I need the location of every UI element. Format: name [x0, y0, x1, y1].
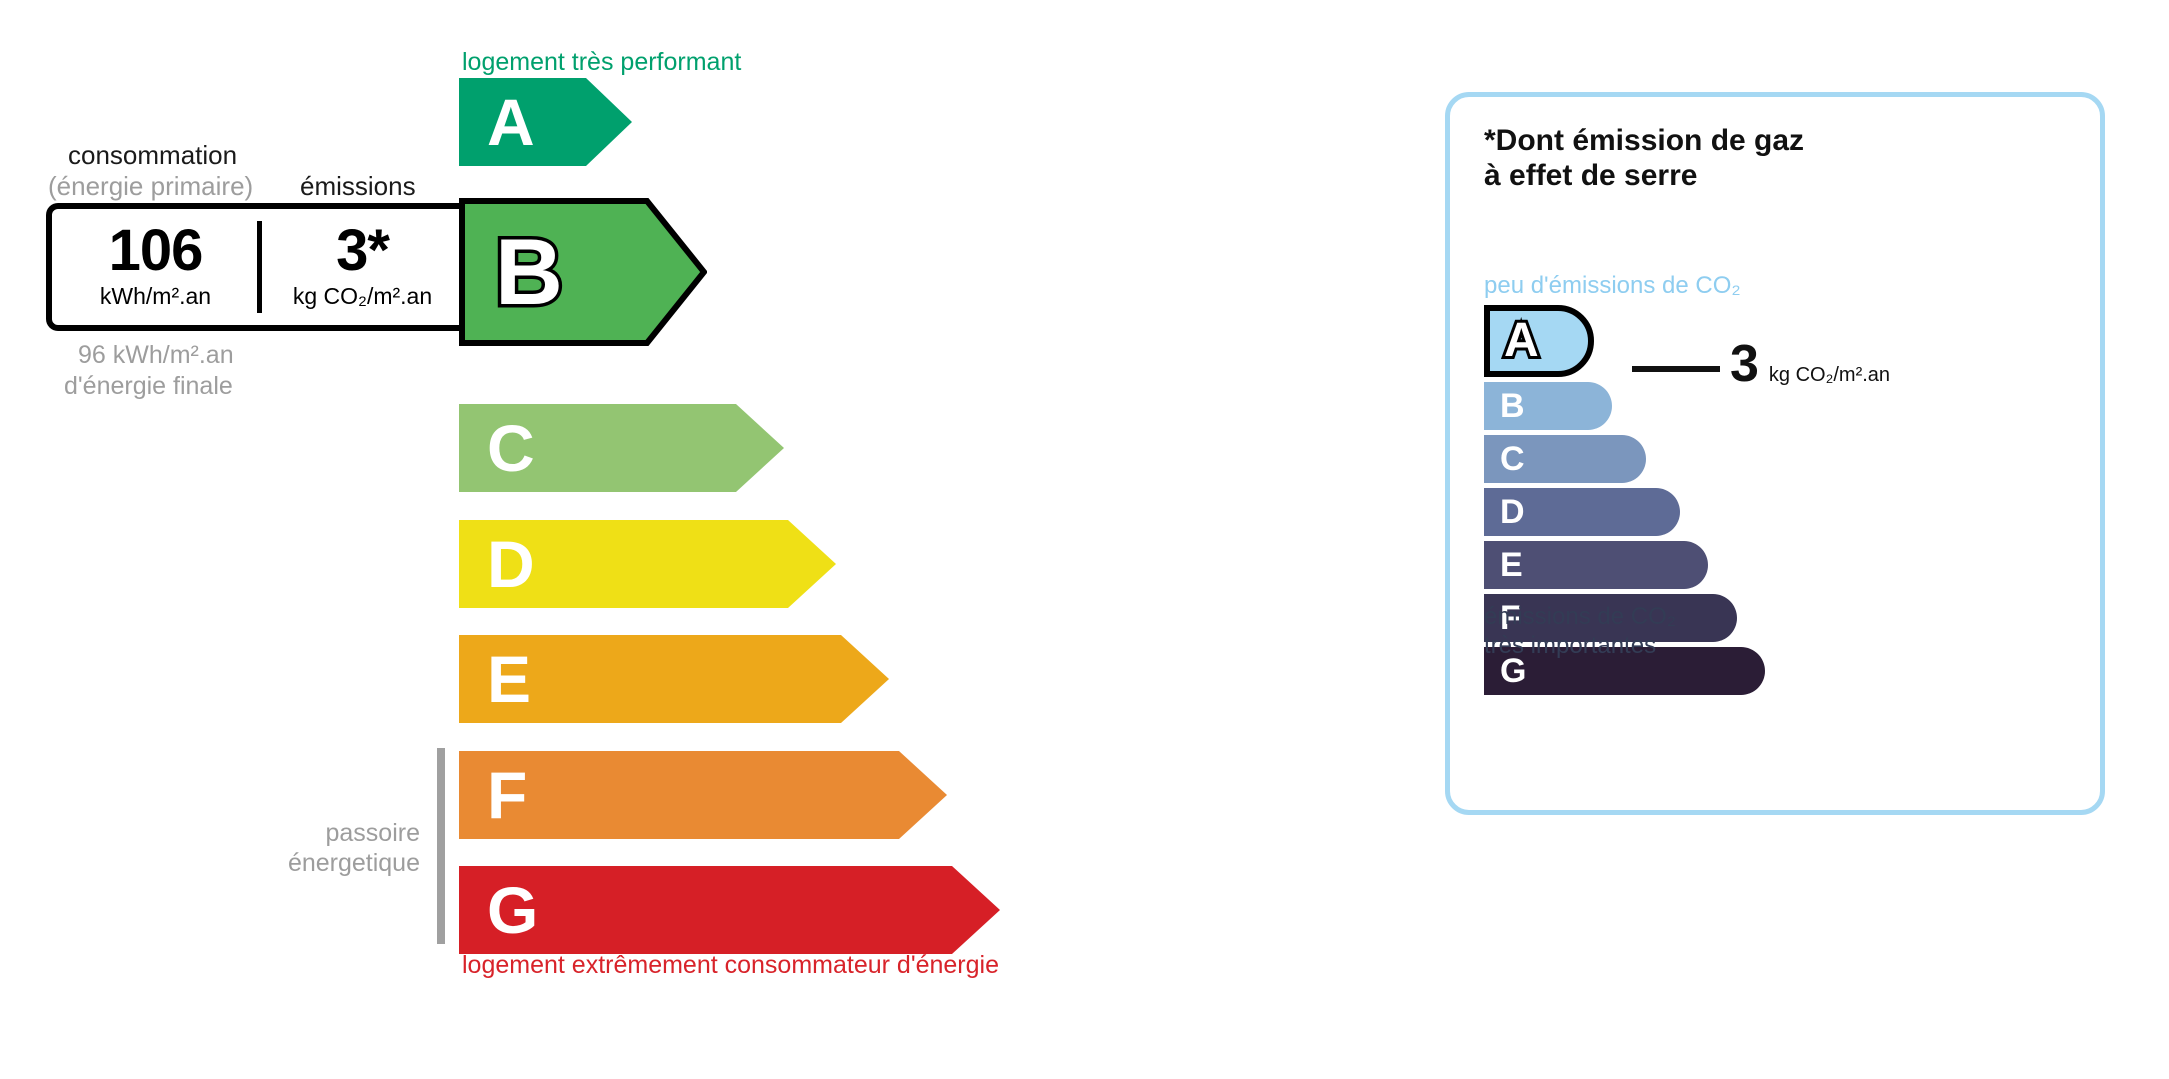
- consumption-value: 106: [109, 224, 203, 277]
- energy-class-letter-d: D: [487, 531, 535, 597]
- primary-energy-label: (énergie primaire): [48, 171, 253, 202]
- passoire-line-2: énergetique: [240, 848, 420, 878]
- passoire-marker-bar: [437, 748, 445, 944]
- co2-unit: kg CO₂/m².an: [1769, 364, 1890, 387]
- co2-value: 3: [1730, 338, 1759, 390]
- energy-class-arrow-d: D: [459, 520, 836, 608]
- co2-class-bar-c: C: [1484, 435, 1646, 483]
- energy-class-letter-e: E: [487, 646, 531, 712]
- energy-class-arrow-g: G: [459, 866, 1000, 954]
- energy-class-arrow-c: C: [459, 404, 784, 492]
- co2-caption-low: peu d'émissions de CO₂: [1484, 272, 1741, 300]
- energy-class-arrow-a: A: [459, 78, 632, 166]
- co2-panel-title: *Dont émission de gaz à effet de serre: [1484, 123, 1804, 194]
- energy-class-arrow-e: E: [459, 635, 889, 723]
- energy-class-arrow-f: F: [459, 751, 947, 839]
- arrow-shape-f: [459, 751, 947, 839]
- co2-connector-line: [1632, 366, 1720, 372]
- emissions-label: émissions: [300, 171, 416, 202]
- co2-class-letter-b: B: [1500, 389, 1525, 423]
- co2-panel: *Dont émission de gaz à effet de serre p…: [1445, 92, 2105, 815]
- co2-class-letter-a: A: [1504, 317, 1539, 365]
- consumption-label: consommation: [68, 140, 237, 171]
- co2-class-letter-d: D: [1500, 495, 1525, 529]
- co2-class-bar-a: A: [1484, 305, 1594, 377]
- co2-caption-high: émissions de CO₂ très importantes: [1484, 602, 1676, 661]
- energy-class-letter-g: G: [487, 877, 538, 943]
- final-energy-caption: d'énergie finale: [64, 371, 234, 402]
- emissions-value: 3*: [336, 224, 389, 277]
- energy-class-letter-b: B: [495, 225, 563, 319]
- consumption-unit: kWh/m².an: [100, 283, 211, 310]
- co2-value-group: 3 kg CO₂/m².an: [1730, 338, 1890, 390]
- energy-class-arrows: ABCDEFG: [459, 0, 1259, 1079]
- energy-class-letter-a: A: [487, 89, 535, 155]
- arrow-shape-a: [459, 78, 632, 166]
- passoire-line-1: passoire: [240, 818, 420, 848]
- passoire-label: passoire énergetique: [240, 818, 420, 878]
- final-energy-value: 96 kWh/m².an: [78, 340, 234, 371]
- co2-class-letter-c: C: [1500, 442, 1525, 476]
- co2-class-bar-d: D: [1484, 488, 1680, 536]
- emissions-unit: kg CO₂/m².an: [293, 283, 432, 310]
- consumption-value-cell: 106 kWh/m².an: [52, 209, 259, 325]
- arrow-shape-g: [459, 866, 1000, 954]
- final-energy-note: 96 kWh/m².an d'énergie finale: [64, 340, 234, 401]
- co2-class-bar-b: B: [1484, 382, 1612, 430]
- emissions-value-cell: 3* kg CO₂/m².an: [259, 209, 466, 325]
- energy-performance-diagram: consommation (énergie primaire) émission…: [0, 0, 1400, 1079]
- value-box: 106 kWh/m².an 3* kg CO₂/m².an: [46, 203, 466, 331]
- energy-class-arrow-b: B: [459, 198, 707, 346]
- co2-class-bar-e: E: [1484, 541, 1708, 589]
- energy-class-letter-f: F: [487, 762, 527, 828]
- energy-class-letter-c: C: [487, 415, 535, 481]
- co2-class-letter-e: E: [1500, 548, 1523, 582]
